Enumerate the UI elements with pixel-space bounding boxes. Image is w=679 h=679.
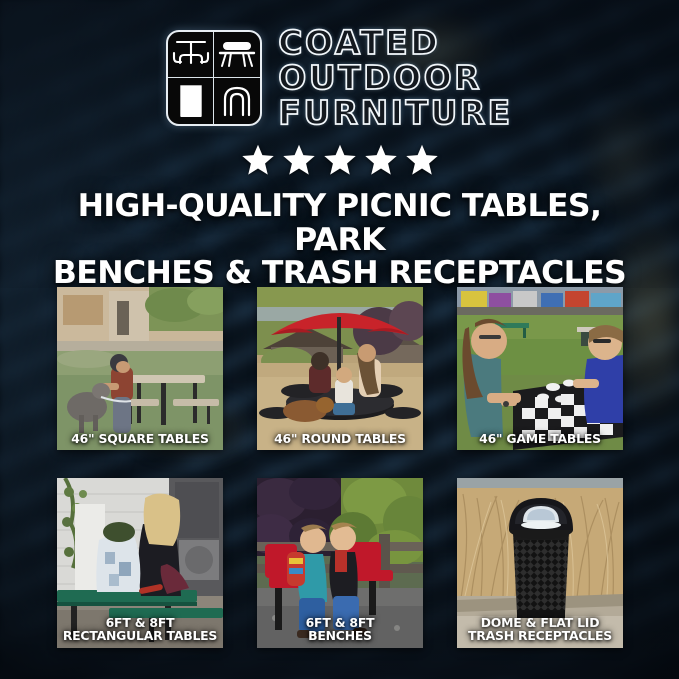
tile-caption-line-1: DOME & FLAT LID [460, 616, 620, 629]
picnic-table-icon [168, 32, 214, 78]
product-tile-game-tables[interactable]: 46" GAME TABLES [457, 287, 623, 450]
brand-name-line-1: COATED [278, 26, 440, 59]
banner-header: COATED OUTDOOR FURNITURE HIGH-QUALITY PI… [0, 0, 679, 291]
product-category-grid: 46" SQUARE TABLES [57, 287, 623, 648]
tile-caption: DOME & FLAT LID TRASH RECEPTACLES [457, 616, 623, 642]
tile-caption: 46" GAME TABLES [457, 432, 623, 445]
tile-caption-line-2: RECTANGULAR TABLES [60, 629, 220, 642]
logo-icon-grid [166, 30, 262, 126]
park-bench-icon [214, 32, 260, 78]
star-icon [364, 143, 398, 177]
product-tile-benches[interactable]: 6FT & 8FT BENCHES [257, 478, 423, 648]
promotional-banner: COATED OUTDOOR FURNITURE HIGH-QUALITY PI… [0, 0, 679, 679]
star-icon [282, 143, 316, 177]
product-photo-square-tables [57, 287, 223, 450]
rating-stars [0, 143, 679, 177]
page-title: HIGH-QUALITY PICNIC TABLES, PARK BENCHES… [40, 190, 640, 291]
product-tile-square-tables[interactable]: 46" SQUARE TABLES [57, 287, 223, 450]
bike-rack-icon [214, 78, 260, 124]
headline-line-1: HIGH-QUALITY PICNIC TABLES, PARK [78, 188, 602, 258]
tile-caption-line-1: 46" GAME TABLES [460, 432, 620, 445]
tile-caption: 6FT & 8FT BENCHES [257, 616, 423, 642]
product-photo-game-tables [457, 287, 623, 450]
tile-caption: 6FT & 8FT RECTANGULAR TABLES [57, 616, 223, 642]
brand-name: COATED OUTDOOR FURNITURE [278, 26, 512, 129]
brand-logo: COATED OUTDOOR FURNITURE [0, 0, 679, 129]
brand-name-line-2: OUTDOOR [278, 61, 482, 94]
tile-caption-line-2: TRASH RECEPTACLES [460, 629, 620, 642]
star-icon [241, 143, 275, 177]
product-tile-round-tables[interactable]: 46" ROUND TABLES [257, 287, 423, 450]
brand-name-line-3: FURNITURE [278, 96, 512, 129]
trash-receptacle-icon [168, 78, 214, 124]
tile-caption-line-1: 6FT & 8FT [260, 616, 420, 629]
star-icon [323, 143, 357, 177]
tile-caption-line-1: 46" SQUARE TABLES [60, 432, 220, 445]
tile-caption: 46" SQUARE TABLES [57, 432, 223, 445]
product-tile-rectangular-tables[interactable]: 6FT & 8FT RECTANGULAR TABLES [57, 478, 223, 648]
product-tile-trash-receptacles[interactable]: DOME & FLAT LID TRASH RECEPTACLES [457, 478, 623, 648]
tile-caption-line-1: 6FT & 8FT [60, 616, 220, 629]
product-photo-round-tables [257, 287, 423, 450]
tile-caption: 46" ROUND TABLES [257, 432, 423, 445]
tile-caption-line-2: BENCHES [260, 629, 420, 642]
tile-caption-line-1: 46" ROUND TABLES [260, 432, 420, 445]
star-icon [405, 143, 439, 177]
